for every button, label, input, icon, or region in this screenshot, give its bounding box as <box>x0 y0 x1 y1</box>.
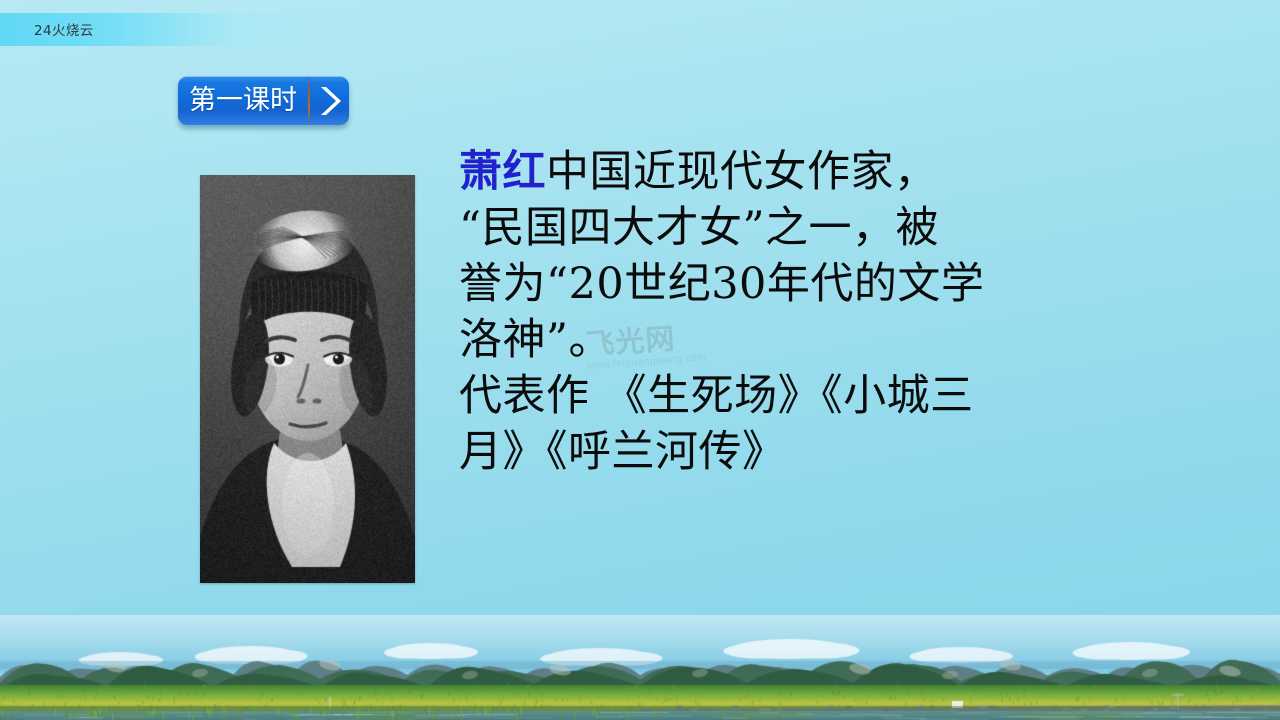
lesson-period-label: 第一课时 <box>178 87 297 114</box>
bio-line-6: 月》《呼兰河传》 <box>459 424 1079 480</box>
bio-line-3: 誉为“20世纪30年代的文学 <box>459 256 1079 312</box>
lesson-period-button[interactable]: 第一课时 <box>178 76 349 125</box>
bio-line-4: 洛神”。 <box>459 312 1079 368</box>
footer-landscape-photo <box>0 615 1280 720</box>
presentation-slide: 24火烧云 第一课时 萧红中国近现代女作家， “民国四大才女”之一，被 誉为“2… <box>0 0 1280 720</box>
bio-line-5: 代表作 《生死场》《小城三 <box>459 368 1079 424</box>
author-name: 萧红 <box>459 147 546 197</box>
footer-canvas <box>0 615 1280 720</box>
page-title: 24火烧云 <box>34 19 94 39</box>
author-biography: 萧红中国近现代女作家， “民国四大才女”之一，被 誉为“20世纪30年代的文学 … <box>459 144 1079 480</box>
chevron-right-icon[interactable] <box>310 84 349 118</box>
bio-line-2: “民国四大才女”之一，被 <box>459 200 1079 256</box>
author-portrait-photo <box>200 175 415 583</box>
bio-line-1: 萧红中国近现代女作家， <box>459 144 1079 200</box>
bio-line-1-text: 中国近现代女作家， <box>546 147 938 197</box>
portrait-canvas <box>200 175 415 583</box>
